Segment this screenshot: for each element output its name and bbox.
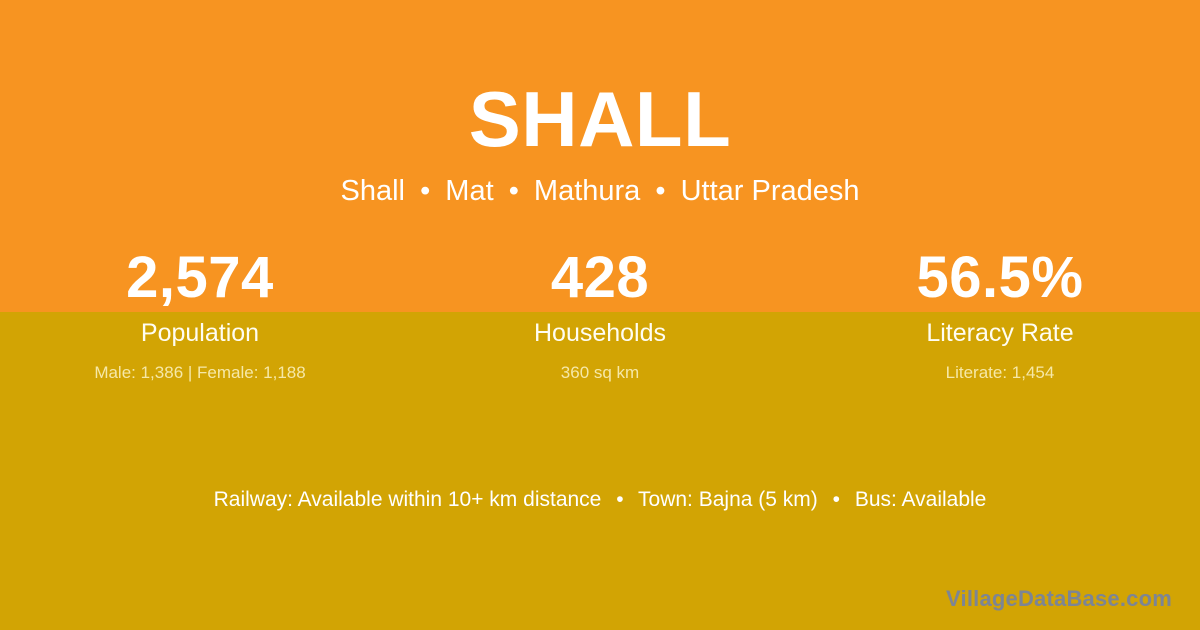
stat-population: 2,574 Population Male: 1,386 | Female: 1… <box>0 246 400 383</box>
page-title: SHALL <box>0 0 1200 156</box>
stat-sub-population: Male: 1,386 | Female: 1,188 <box>0 348 400 383</box>
stat-literacy-rate: 56.5% Literacy Rate Literate: 1,454 <box>800 246 1200 383</box>
amenity-separator: • <box>824 488 849 511</box>
amenity-town: Town: Bajna (5 km) <box>638 488 818 511</box>
stat-value-households: 428 <box>400 246 800 311</box>
stats-row: 2,574 Population Male: 1,386 | Female: 1… <box>0 246 1200 383</box>
amenity-separator: • <box>607 488 632 511</box>
stat-households: 428 Households 360 sq km <box>400 246 800 383</box>
breadcrumb-separator: • <box>413 175 437 207</box>
breadcrumb-item-district: Mathura <box>534 175 640 207</box>
stat-label-population: Population <box>0 311 400 348</box>
amenity-bus: Bus: Available <box>855 488 987 511</box>
breadcrumb-item-state: Uttar Pradesh <box>681 175 860 207</box>
breadcrumb-separator: • <box>502 175 526 207</box>
stat-label-literacy-rate: Literacy Rate <box>800 311 1200 348</box>
stat-sub-households: 360 sq km <box>400 348 800 383</box>
stat-value-literacy-rate: 56.5% <box>800 246 1200 311</box>
breadcrumb: Shall • Mat • Mathura • Uttar Pradesh <box>0 156 1200 208</box>
amenities-line: Railway: Available within 10+ km distanc… <box>0 486 1200 513</box>
title-block: SHALL Shall • Mat • Mathura • Uttar Prad… <box>0 0 1200 208</box>
stat-value-population: 2,574 <box>0 246 400 311</box>
village-info-card: SHALL Shall • Mat • Mathura • Uttar Prad… <box>0 0 1200 630</box>
stat-sub-literacy-rate: Literate: 1,454 <box>800 348 1200 383</box>
breadcrumb-item-block: Mat <box>445 175 493 207</box>
stat-label-households: Households <box>400 311 800 348</box>
breadcrumb-item-village: Shall <box>341 175 406 207</box>
breadcrumb-separator: • <box>648 175 672 207</box>
site-brand: VillageDataBase.com <box>946 586 1172 612</box>
amenity-railway: Railway: Available within 10+ km distanc… <box>214 488 602 511</box>
